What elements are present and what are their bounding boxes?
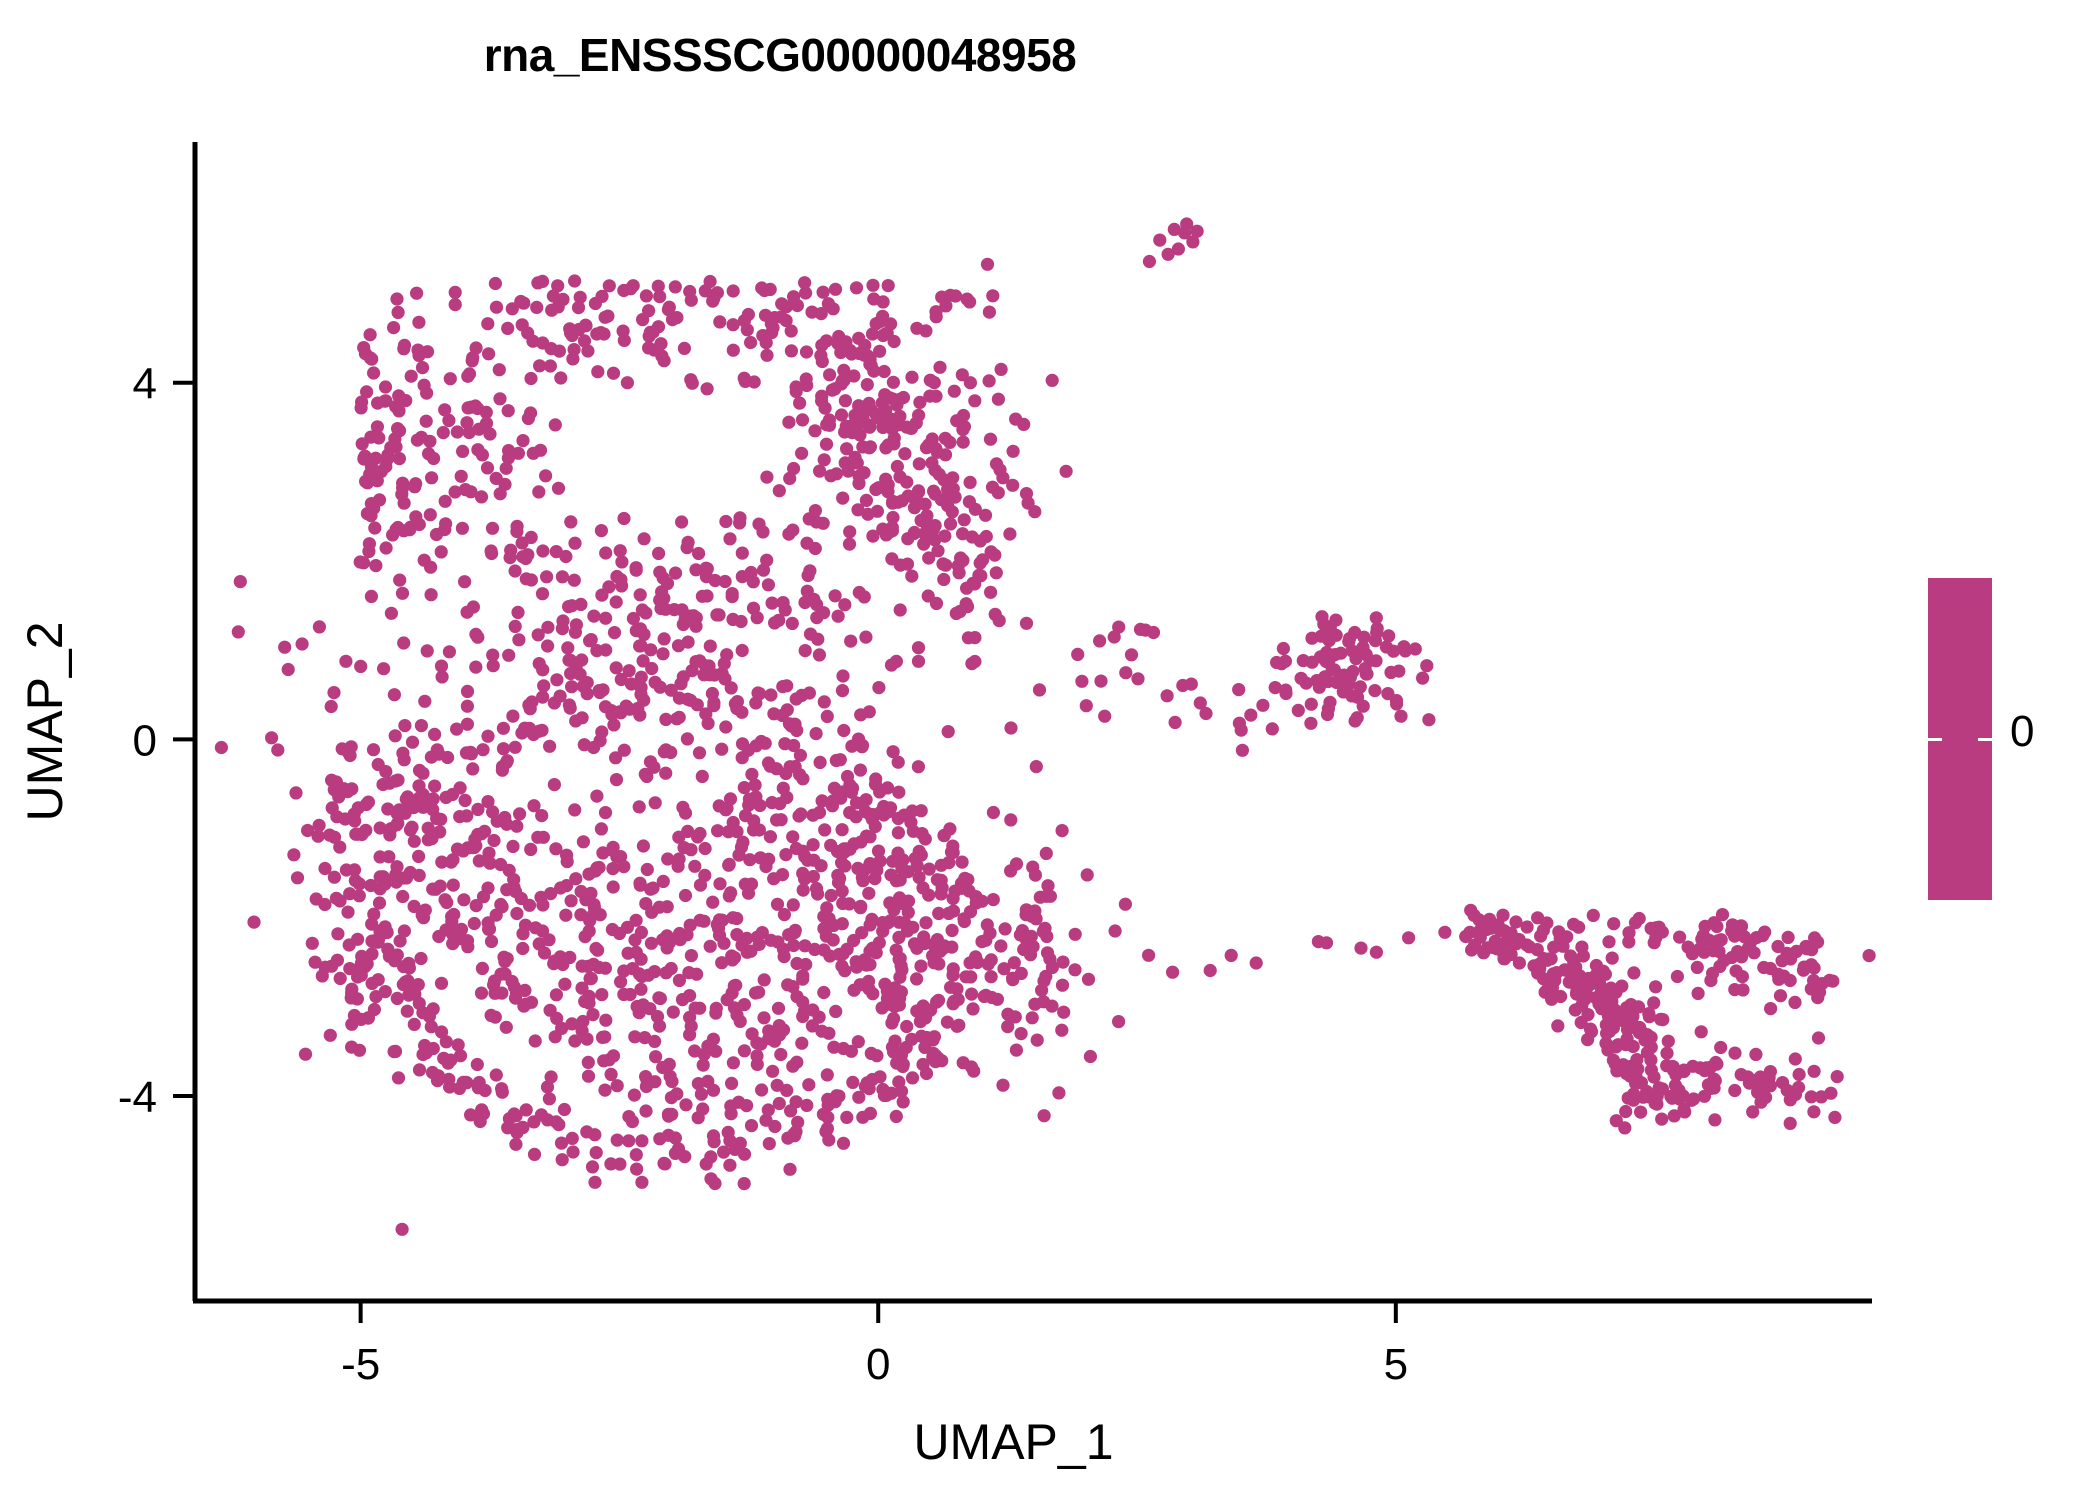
y-axis-title: UMAP_2	[17, 621, 73, 821]
data-point	[661, 900, 674, 913]
data-point	[371, 420, 384, 433]
data-point	[520, 572, 533, 585]
data-point	[660, 929, 673, 942]
data-point	[638, 532, 651, 545]
data-point	[636, 313, 649, 326]
data-point	[770, 813, 783, 826]
data-point	[482, 923, 495, 936]
data-point	[508, 564, 521, 577]
data-point	[717, 1146, 730, 1159]
data-point	[591, 365, 604, 378]
data-point	[391, 992, 404, 1005]
data-point	[595, 589, 608, 602]
data-point	[1572, 921, 1585, 934]
data-point	[381, 943, 394, 956]
data-point	[538, 946, 551, 959]
data-point	[396, 890, 409, 903]
data-point	[630, 1148, 643, 1161]
data-point	[634, 588, 647, 601]
data-point	[787, 939, 800, 952]
data-point	[1587, 909, 1600, 922]
data-point	[838, 598, 851, 611]
data-point	[858, 953, 871, 966]
data-point	[870, 1049, 883, 1062]
data-point	[1699, 920, 1712, 933]
data-point	[408, 1018, 421, 1031]
data-point	[349, 874, 362, 887]
data-point	[1474, 924, 1487, 937]
data-point	[1483, 913, 1496, 926]
data-point	[599, 1014, 612, 1027]
data-point	[898, 447, 911, 460]
data-point	[1569, 1003, 1582, 1016]
data-point	[598, 1084, 611, 1097]
data-point	[635, 1176, 648, 1189]
data-point	[1641, 1046, 1654, 1059]
data-point	[991, 993, 1004, 1006]
data-point	[675, 515, 688, 528]
data-point	[694, 914, 707, 927]
data-point	[653, 566, 666, 579]
data-point	[795, 689, 808, 702]
data-point	[692, 1077, 705, 1090]
data-point	[843, 525, 856, 538]
data-point	[832, 610, 845, 623]
data-point	[330, 810, 343, 823]
data-point	[683, 989, 696, 1002]
data-point	[324, 1029, 337, 1042]
data-point	[759, 1114, 772, 1127]
data-point	[493, 392, 506, 405]
data-point	[404, 823, 417, 836]
data-point	[898, 916, 911, 929]
data-point	[878, 365, 891, 378]
data-point	[531, 831, 544, 844]
data-point	[374, 850, 387, 863]
data-point	[527, 728, 540, 741]
data-point	[673, 711, 686, 724]
data-point	[798, 872, 811, 885]
data-point	[859, 631, 872, 644]
data-point	[726, 911, 739, 924]
data-point	[1627, 966, 1640, 979]
data-point	[762, 578, 775, 591]
data-point	[817, 1108, 830, 1121]
data-point	[1649, 931, 1662, 944]
data-point	[994, 939, 1007, 952]
data-point	[685, 949, 698, 962]
data-point	[534, 891, 547, 904]
data-point	[364, 328, 377, 341]
data-point	[399, 807, 412, 820]
data-point	[1009, 413, 1022, 426]
data-point	[836, 885, 849, 898]
data-point	[1109, 924, 1122, 937]
data-point	[727, 344, 740, 357]
data-point	[1321, 708, 1334, 721]
data-point	[823, 368, 836, 381]
data-point	[469, 628, 482, 641]
data-point	[818, 823, 831, 836]
data-point	[1422, 713, 1435, 726]
data-point	[815, 859, 828, 872]
data-point	[900, 1020, 913, 1033]
data-point	[1060, 465, 1073, 478]
data-point	[917, 999, 930, 1012]
data-point	[325, 700, 338, 713]
data-point	[778, 737, 791, 750]
data-point	[1256, 699, 1269, 712]
data-point	[1728, 1047, 1741, 1060]
data-point	[813, 806, 826, 819]
data-point	[1692, 987, 1705, 1000]
data-point	[1055, 1024, 1068, 1037]
data-point	[781, 703, 794, 716]
data-point	[578, 334, 591, 347]
data-point	[527, 447, 540, 460]
data-point	[682, 636, 695, 649]
data-point	[282, 663, 295, 676]
data-point	[506, 840, 519, 853]
data-point	[939, 432, 952, 445]
data-point	[410, 287, 423, 300]
data-point	[753, 799, 766, 812]
data-point	[1764, 1002, 1777, 1015]
data-point	[548, 696, 561, 709]
data-point	[582, 868, 595, 881]
data-point	[904, 816, 917, 829]
data-point	[389, 729, 402, 742]
data-point	[1619, 1105, 1632, 1118]
data-point	[936, 942, 949, 955]
data-point	[644, 755, 657, 768]
data-point	[981, 258, 994, 271]
data-point	[529, 1034, 542, 1047]
data-point	[809, 504, 822, 517]
data-point	[586, 1160, 599, 1173]
data-point	[947, 846, 960, 859]
data-point	[421, 644, 434, 657]
data-point	[380, 541, 393, 554]
data-point	[1370, 946, 1383, 959]
data-point	[271, 743, 284, 756]
data-point	[408, 835, 421, 848]
data-point	[794, 807, 807, 820]
data-point	[1052, 1086, 1065, 1099]
data-point	[630, 1163, 643, 1176]
data-point	[1292, 704, 1305, 717]
data-point	[958, 513, 971, 526]
data-point	[1139, 624, 1152, 637]
data-point	[328, 871, 341, 884]
data-point	[956, 368, 969, 381]
data-point	[1622, 1005, 1635, 1018]
data-point	[869, 860, 882, 873]
data-point	[506, 710, 519, 723]
data-point	[829, 283, 842, 296]
data-point	[960, 597, 973, 610]
data-point	[1580, 987, 1593, 1000]
data-point	[778, 908, 791, 921]
data-point	[511, 606, 524, 619]
data-point	[564, 327, 577, 340]
data-point	[565, 894, 578, 907]
data-point	[717, 937, 730, 950]
data-point	[877, 295, 890, 308]
data-point	[588, 901, 601, 914]
data-point	[1673, 931, 1686, 944]
data-point	[648, 343, 661, 356]
data-point	[396, 1223, 409, 1236]
data-point	[1390, 697, 1403, 710]
data-point	[1602, 935, 1615, 948]
data-point	[630, 914, 643, 927]
data-point	[449, 286, 462, 299]
data-point	[861, 1076, 874, 1089]
data-point	[536, 587, 549, 600]
data-point	[719, 515, 732, 528]
data-point	[1056, 824, 1069, 837]
data-point	[874, 806, 887, 819]
data-point	[313, 620, 326, 633]
data-point	[744, 336, 757, 349]
data-point	[915, 804, 928, 817]
data-point	[738, 1044, 751, 1057]
data-point	[1777, 970, 1790, 983]
data-point	[1016, 924, 1029, 937]
data-point	[673, 852, 686, 865]
data-point	[427, 452, 440, 465]
data-point	[568, 574, 581, 587]
y-axis-ticks: 40-4	[118, 360, 195, 1122]
data-point	[1716, 908, 1729, 921]
data-point	[379, 380, 392, 393]
data-point	[1534, 930, 1547, 943]
data-point	[391, 774, 404, 787]
data-point	[656, 647, 669, 660]
data-point	[633, 877, 646, 890]
data-point	[1823, 974, 1836, 987]
data-point	[572, 301, 585, 314]
data-point	[1359, 662, 1372, 675]
data-point	[1828, 1111, 1841, 1124]
data-point	[921, 520, 934, 533]
data-point	[813, 465, 826, 478]
data-point	[790, 385, 803, 398]
data-point	[869, 408, 882, 421]
data-point	[449, 298, 462, 311]
data-point	[1704, 1082, 1717, 1095]
data-point	[310, 892, 323, 905]
data-point	[988, 549, 1001, 562]
data-point	[439, 923, 452, 936]
data-point	[1056, 979, 1069, 992]
data-point	[837, 724, 850, 737]
y-tick-label: 4	[133, 360, 157, 409]
data-point	[617, 988, 630, 1001]
data-point	[654, 992, 667, 1005]
x-axis-ticks: -505	[341, 1301, 1408, 1389]
data-point	[471, 803, 484, 816]
data-point	[516, 318, 529, 331]
data-point	[574, 598, 587, 611]
data-point	[681, 693, 694, 706]
data-point	[869, 778, 882, 791]
data-point	[635, 681, 648, 694]
data-point	[543, 1092, 556, 1105]
data-point	[585, 633, 598, 646]
data-point	[760, 554, 773, 567]
data-point	[891, 496, 904, 509]
data-point	[724, 1099, 737, 1112]
data-point	[564, 667, 577, 680]
data-point	[588, 1176, 601, 1189]
data-point	[1337, 685, 1350, 698]
data-point	[543, 740, 556, 753]
data-point	[756, 926, 769, 939]
data-point	[771, 935, 784, 948]
data-point	[453, 1082, 466, 1095]
data-point	[1131, 672, 1144, 685]
data-point	[454, 781, 467, 794]
data-point	[530, 301, 543, 314]
data-point	[796, 772, 809, 785]
data-point	[355, 396, 368, 409]
data-point	[553, 345, 566, 358]
data-point	[1546, 981, 1559, 994]
data-point	[1004, 813, 1017, 826]
data-point	[388, 688, 401, 701]
data-point	[893, 410, 906, 423]
data-point	[957, 409, 970, 422]
data-point	[722, 859, 735, 872]
data-point	[736, 644, 749, 657]
data-point	[575, 982, 588, 995]
data-point	[649, 676, 662, 689]
data-point	[1774, 989, 1787, 1002]
data-point	[802, 1078, 815, 1091]
data-point	[876, 421, 889, 434]
data-point	[672, 1142, 685, 1155]
data-point	[786, 617, 799, 630]
data-point	[969, 890, 982, 903]
x-tick-label: 0	[866, 1340, 890, 1389]
data-point	[1695, 1025, 1708, 1038]
data-point	[438, 523, 451, 536]
data-point	[1031, 1034, 1044, 1047]
data-point	[786, 1060, 799, 1073]
data-point	[435, 545, 448, 558]
data-point	[1788, 996, 1801, 1009]
scatter-plot-canvas: -505 40-4 UMAP_1 UMAP_2	[0, 0, 2100, 1500]
data-point	[523, 899, 536, 912]
data-point	[1006, 479, 1019, 492]
data-point	[536, 336, 549, 349]
data-point	[539, 469, 552, 482]
data-point	[946, 924, 959, 937]
data-point	[701, 562, 714, 575]
data-point	[798, 596, 811, 609]
data-point	[1798, 961, 1811, 974]
data-point	[1233, 717, 1246, 730]
data-point	[872, 481, 885, 494]
data-point	[1643, 1010, 1656, 1023]
data-point	[550, 988, 563, 1001]
data-point	[839, 394, 852, 407]
data-point	[1071, 648, 1084, 661]
data-point	[622, 1110, 635, 1123]
data-point	[762, 853, 775, 866]
data-point	[425, 471, 438, 484]
data-point	[1505, 927, 1518, 940]
data-point	[905, 570, 918, 583]
data-point	[1730, 964, 1743, 977]
data-point	[611, 1079, 624, 1092]
data-point	[375, 465, 388, 478]
data-point	[377, 662, 390, 675]
data-point	[773, 1028, 786, 1041]
data-point	[418, 1039, 431, 1052]
data-point	[1645, 1031, 1658, 1044]
data-point	[913, 396, 926, 409]
data-point	[838, 859, 851, 872]
data-point	[1304, 717, 1317, 730]
data-point	[510, 820, 523, 833]
data-point	[784, 1104, 797, 1117]
data-point	[791, 299, 804, 312]
data-point	[658, 632, 671, 645]
data-point	[623, 664, 636, 677]
data-point	[1075, 675, 1088, 688]
data-point	[836, 669, 849, 682]
data-point	[892, 756, 905, 769]
data-point	[964, 970, 977, 983]
data-point	[796, 1010, 809, 1023]
data-point	[645, 937, 658, 950]
data-point	[704, 1172, 717, 1185]
data-point	[878, 388, 891, 401]
data-point	[745, 878, 758, 891]
data-point	[540, 570, 553, 583]
data-point	[892, 786, 905, 799]
data-point	[990, 566, 1003, 579]
data-point	[548, 778, 561, 791]
data-point	[554, 950, 567, 963]
data-point	[746, 1027, 759, 1040]
data-point	[817, 286, 830, 299]
data-point	[800, 537, 813, 550]
data-point	[713, 799, 726, 812]
data-point	[393, 452, 406, 465]
data-point	[857, 412, 870, 425]
data-point	[510, 520, 523, 533]
data-point	[291, 871, 304, 884]
data-point	[509, 741, 522, 754]
data-point	[1749, 1048, 1762, 1061]
data-point	[556, 622, 569, 635]
data-point	[871, 505, 884, 518]
data-point	[928, 1030, 941, 1043]
data-point	[565, 680, 578, 693]
data-point	[498, 811, 511, 824]
data-point	[1305, 698, 1318, 711]
data-point	[910, 972, 923, 985]
data-point	[1323, 696, 1336, 709]
data-point	[821, 710, 834, 723]
data-point	[477, 1107, 490, 1120]
data-point	[596, 1031, 609, 1044]
data-point	[568, 274, 581, 287]
